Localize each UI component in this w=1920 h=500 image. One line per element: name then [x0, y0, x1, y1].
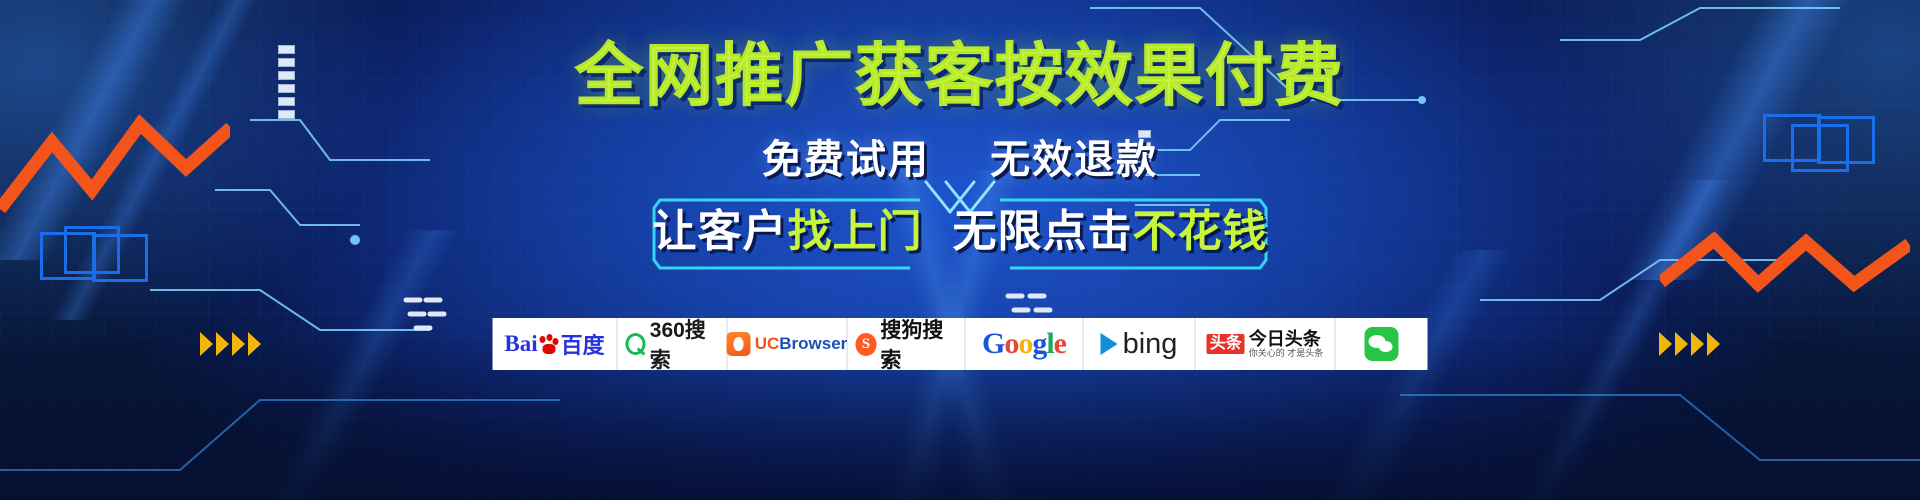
banner-subtitle: 免费试用 无效退款: [0, 140, 1920, 180]
sogou-circle-icon: S: [856, 333, 877, 356]
line3-b-white: 无限点击: [953, 207, 1133, 256]
rect-cluster-left: [40, 222, 160, 292]
banner-title: 全网推广获客按效果付费: [0, 42, 1920, 110]
baidu-logo-icon: Bai 百度: [504, 328, 604, 360]
chevrons-left-icon: [200, 332, 261, 356]
subtitle-left: 免费试用: [762, 138, 930, 182]
toutiao-badge-icon: 头条: [1207, 334, 1245, 355]
baidu-cn-text: 百度: [561, 328, 605, 360]
360-ring-icon: [626, 333, 646, 355]
logo-sogou[interactable]: S 搜狗搜索: [848, 318, 966, 370]
bing-label: bing: [1123, 328, 1178, 361]
logo-toutiao[interactable]: 头条 今日头条 你关心的 才是头条: [1196, 318, 1336, 370]
logo-360[interactable]: 360搜索: [618, 318, 728, 370]
toutiao-label: 今日头条: [1249, 330, 1324, 349]
wechat-icon: [1365, 327, 1399, 361]
chevrons-right-icon: [1659, 332, 1720, 356]
bing-triangle-icon: [1101, 333, 1118, 355]
platform-logo-strip: Bai 百度 360搜索 UCBrowser: [493, 318, 1428, 370]
banner-line3: 让客户找上门无限点击不花钱: [650, 210, 1270, 254]
toutiao-text-col: 今日头条 你关心的 才是头条: [1249, 330, 1324, 358]
subtitle-right: 无效退款: [990, 138, 1158, 182]
sogou-label: 搜狗搜索: [880, 314, 956, 374]
toutiao-logo-icon: 头条 今日头条 你关心的 才是头条: [1207, 330, 1324, 358]
baidu-paw-icon: [540, 335, 559, 354]
uc-browser-text: Browser: [779, 334, 847, 353]
line3-a-white: 让客户: [653, 207, 788, 256]
logo-bing[interactable]: bing: [1084, 318, 1196, 370]
uc-logo-icon: UCBrowser: [727, 332, 848, 356]
line3-b-green: 不花钱: [1133, 207, 1268, 256]
logo-google[interactable]: Google: [966, 318, 1084, 370]
logo-wechat[interactable]: [1336, 318, 1428, 370]
zigzag-right-icon: [1660, 218, 1910, 318]
promo-banner: 全网推广获客按效果付费 免费试用 无效退款 让客户找上门无限点击不: [0, 0, 1920, 500]
logo-baidu[interactable]: Bai 百度: [493, 318, 618, 370]
so360-label: 360搜索: [650, 314, 719, 374]
uc-squirrel-icon: [727, 332, 751, 356]
uc-en-text: UC: [755, 334, 780, 353]
dash-marks-left: [400, 292, 460, 337]
google-wordmark-icon: Google: [982, 327, 1066, 361]
uc-label: UCBrowser: [755, 334, 848, 354]
baidu-en-text: Bai: [504, 331, 537, 357]
highlight-frame: 让客户找上门无限点击不花钱: [650, 196, 1270, 272]
line3-a-green: 找上门: [788, 207, 923, 256]
logo-uc-browser[interactable]: UCBrowser: [728, 318, 848, 370]
toutiao-slogan: 你关心的 才是头条: [1249, 349, 1324, 358]
bing-logo-icon: bing: [1101, 328, 1178, 361]
sogou-logo-icon: S 搜狗搜索: [856, 314, 957, 374]
so360-logo-icon: 360搜索: [626, 314, 719, 374]
